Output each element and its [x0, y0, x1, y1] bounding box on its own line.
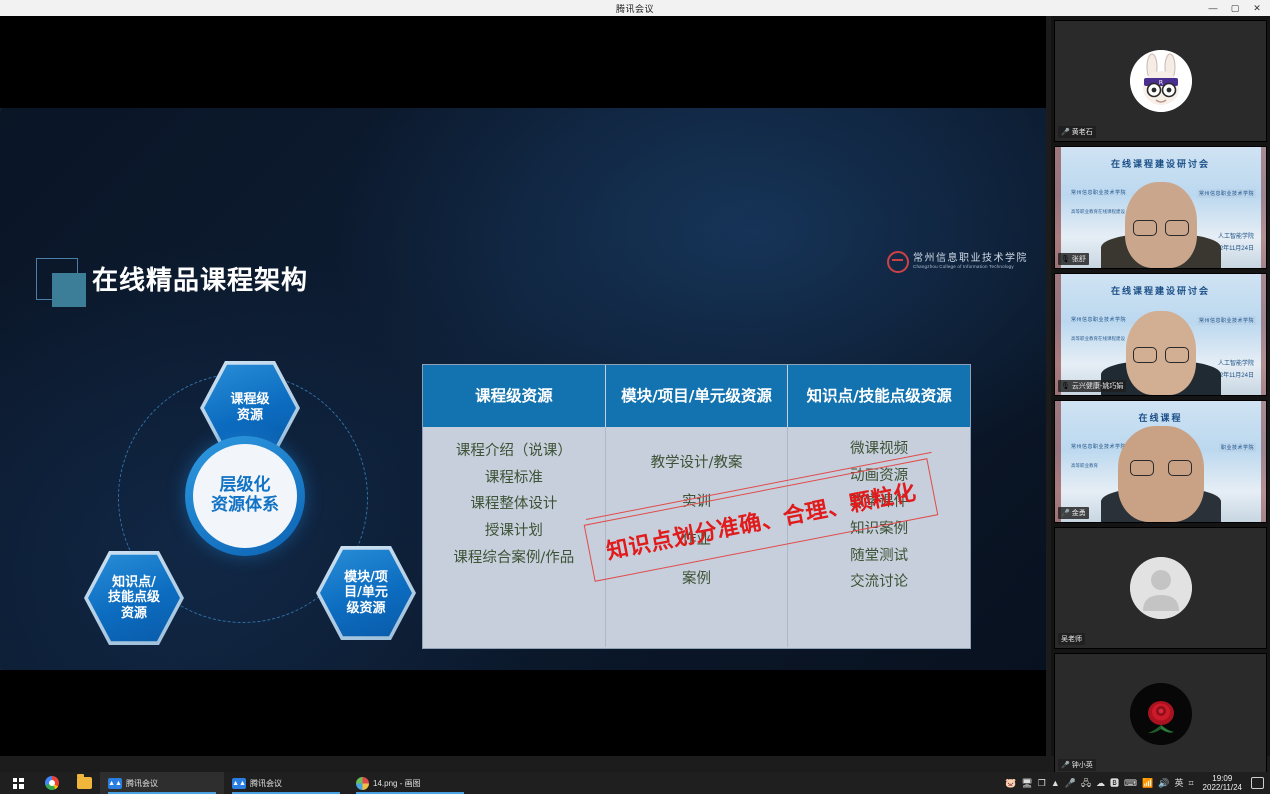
rose-avatar-icon — [1130, 683, 1192, 745]
slide-title: 在线精品课程架构 — [92, 260, 308, 297]
rabbit-avatar-icon: R — [1130, 50, 1192, 112]
video-bg-logo-left: 常州信息职业技术学院 — [1071, 189, 1126, 196]
diagram-center-label: 层级化 资源体系 — [193, 444, 297, 548]
display-icon[interactable]: 🖥 — [1021, 779, 1032, 788]
system-tray[interactable]: 🐷 🖥 ❐ ▲ 🎤 🖧 ☁ 🅱 ⌨ 📶 🔊 英 ⌗ 19:09 2022/11/… — [1005, 774, 1270, 792]
folder-icon — [77, 777, 92, 789]
participant-name-chip: 🎤 黄老石 — [1058, 126, 1096, 138]
hex-course-line2: 资源 — [230, 408, 269, 424]
hex-module-line3: 级资源 — [344, 601, 388, 617]
participant-tile[interactable]: 在线课程 常州信息职业技术学院 职业技术学院 高等职业教育 🎤 金勇 — [1054, 400, 1267, 523]
video-bg-subtitle: 高等职业教育 — [1071, 463, 1098, 469]
taskbar-item-label: 腾讯会议 — [126, 778, 158, 789]
avatar: R — [1130, 50, 1192, 112]
person-head — [1126, 311, 1196, 395]
person-head — [1118, 426, 1204, 522]
mic-muted-icon: 🎤 — [1061, 762, 1070, 769]
center-line2: 资源体系 — [211, 496, 279, 516]
clock-time: 19:09 — [1212, 774, 1232, 783]
participant-name-chip: 🎤 钟小英 — [1058, 759, 1096, 771]
letterbox-bottom — [0, 670, 1046, 756]
participant-tile[interactable]: 在线课程建设研讨会 常州信息职业技术学院 常州信息职业技术学院 高等职业教育在线… — [1054, 146, 1267, 269]
list-item: 课程整体设计 — [470, 496, 557, 513]
avatar — [1130, 557, 1192, 619]
start-button[interactable] — [0, 772, 36, 794]
maximize-icon[interactable]: ▢ — [1224, 0, 1246, 16]
table-header-row: 课程级资源 模块/项目/单元级资源 知识点/技能点级资源 — [423, 365, 970, 427]
hex-knowledge-line1: 知识点/ — [108, 575, 160, 591]
list-item: 课程介绍（说课） — [456, 443, 572, 460]
mic-active-icon: 🎙 — [1061, 383, 1070, 390]
hex-module-line1: 模块/项 — [344, 570, 388, 586]
window-title: 腾讯会议 — [616, 2, 654, 15]
participant-name-chip: 🎙 云兴健康-姚巧娟 — [1058, 380, 1126, 392]
tencent-meeting-window: 腾讯会议 — ▢ ✕ 在线精品课程架构 常州信息职业技术学院 Changzhou… — [0, 0, 1270, 794]
participant-name: 张舒 — [1072, 254, 1086, 264]
participant-tile[interactable]: 🎤 钟小英 — [1054, 653, 1267, 775]
mic-icon[interactable]: 🎤 — [1065, 779, 1076, 788]
chrome-icon — [45, 776, 59, 790]
list-item: 教学设计/教案 — [651, 455, 743, 472]
institution-logo: 常州信息职业技术学院 Changzhou College of Informat… — [887, 251, 1028, 273]
minimize-icon[interactable]: — — [1202, 0, 1224, 16]
presentation-slide: 在线精品课程架构 常州信息职业技术学院 Changzhou College of… — [0, 108, 1046, 670]
video-bg-dept: 人工智能学院 — [1218, 231, 1254, 240]
copy-icon[interactable]: ❐ — [1038, 779, 1046, 788]
bluetooth-icon[interactable]: 🅱 — [1110, 779, 1119, 788]
mic-muted-icon: 🎤 — [1061, 129, 1070, 136]
table-header-cell-3: 知识点/技能点级资源 — [788, 365, 970, 427]
participant-name-chip: 🎙 张舒 — [1058, 253, 1089, 265]
glasses-icon — [1133, 220, 1189, 234]
list-item: 案例 — [682, 571, 711, 588]
hex-course-line1: 课程级 — [230, 392, 269, 408]
windows-taskbar[interactable]: ▲▲ 腾讯会议 ▲▲ 腾讯会议 14.png - 画图 🐷 🖥 ❐ ▲ 🎤 🖧 … — [0, 772, 1270, 794]
video-bg-logo-left: 常州信息职业技术学院 — [1071, 443, 1126, 450]
video-bg-title: 在线课程 — [1055, 411, 1266, 424]
ime-panel-icon[interactable]: ⌗ — [1188, 779, 1193, 788]
participant-name: 黄老石 — [1072, 127, 1093, 137]
video-feed: 在线课程建设研讨会 常州信息职业技术学院 常州信息职业技术学院 高等职业教育在线… — [1055, 147, 1266, 268]
action-center-icon[interactable] — [1251, 777, 1264, 789]
tencent-meeting-icon: ▲▲ — [108, 778, 122, 789]
mic-muted-icon: 🎤 — [1061, 510, 1070, 517]
participant-name: 钟小英 — [1072, 760, 1093, 770]
taskbar-item-paint[interactable]: 14.png - 画图 — [348, 772, 472, 794]
network-icon[interactable]: 🖧 — [1081, 779, 1091, 788]
taskbar-item-label: 14.png - 画图 — [373, 778, 421, 789]
hex-module-line2: 目/单元 — [344, 585, 388, 601]
hex-knowledge-line3: 资源 — [108, 606, 160, 622]
decor-square-fill — [52, 273, 86, 307]
participant-tile[interactable]: 在线课程建设研讨会 常州信息职业技术学院 常州信息职业技术学院 高等职业教育在线… — [1054, 273, 1267, 396]
volume-icon[interactable]: 🔊 — [1158, 779, 1169, 788]
table-header-cell-2: 模块/项目/单元级资源 — [606, 365, 789, 427]
glasses-icon — [1133, 347, 1189, 361]
list-item: 微课视频 — [850, 441, 908, 458]
logo-text: 常州信息职业技术学院 Changzhou College of Informat… — [913, 254, 1028, 269]
hex-node-knowledge: 知识点/ 技能点级 资源 — [88, 552, 180, 644]
participant-name-chip: 吴老师 — [1058, 633, 1085, 645]
paint-icon — [356, 777, 369, 790]
keyboard-icon[interactable]: ⌨ — [1124, 779, 1137, 788]
diagram-center-disc: 层级化 资源体系 — [185, 436, 305, 556]
wifi-icon[interactable]: 📶 — [1142, 779, 1153, 788]
close-icon[interactable]: ✕ — [1246, 0, 1268, 16]
person-placeholder-icon — [1130, 557, 1192, 619]
center-line1: 层级化 — [211, 476, 279, 496]
window-title-bar: 腾讯会议 — ▢ ✕ — [0, 0, 1270, 16]
video-bg-subtitle: 高等职业教育在线课程建设 — [1071, 209, 1125, 215]
video-bg-logo-right: 常州信息职业技术学院 — [1197, 316, 1256, 325]
list-item: 随堂测试 — [850, 548, 908, 565]
video-bg-title: 在线课程建设研讨会 — [1055, 284, 1266, 297]
video-bg-title: 在线课程建设研讨会 — [1055, 157, 1266, 170]
video-bg-logo-left: 常州信息职业技术学院 — [1071, 316, 1126, 323]
tencent-meeting-icon: ▲▲ — [232, 778, 246, 789]
clock-date: 2022/11/24 — [1203, 783, 1242, 792]
chrome-taskbar-icon[interactable] — [36, 772, 68, 794]
table-column-1: 课程介绍（说课） 课程标准 课程整体设计 授课计划 课程综合案例/作品 — [423, 427, 606, 647]
file-explorer-taskbar-icon[interactable] — [68, 772, 100, 794]
taskbar-item-tencent-meeting-1[interactable]: ▲▲ 腾讯会议 — [100, 772, 224, 794]
mic-active-icon: 🎙 — [1061, 256, 1070, 263]
letterbox-top — [0, 16, 1046, 108]
glasses-icon — [1130, 460, 1192, 474]
video-feed: 在线课程 常州信息职业技术学院 职业技术学院 高等职业教育 — [1055, 401, 1266, 522]
notification-icon[interactable]: 🐷 — [1005, 779, 1016, 788]
participant-name: 金勇 — [1072, 508, 1086, 518]
participant-name: 吴老师 — [1061, 634, 1082, 644]
video-feed: 在线课程建设研讨会 常州信息职业技术学院 常州信息职业技术学院 高等职业教育在线… — [1055, 274, 1266, 395]
cloud-icon[interactable]: ☁ — [1096, 779, 1105, 788]
video-bg-subtitle: 高等职业教育在线课程建设 — [1071, 336, 1125, 342]
list-item: 课程标准 — [485, 470, 543, 487]
participant-tile[interactable]: 吴老师 — [1054, 527, 1267, 649]
logo-name-en: Changzhou College of Information Technol… — [913, 265, 1028, 270]
hex-node-module: 模块/项 目/单元 级资源 — [320, 547, 412, 639]
taskbar-clock[interactable]: 19:09 2022/11/24 — [1199, 774, 1246, 792]
shared-screen-stage[interactable]: 在线精品课程架构 常州信息职业技术学院 Changzhou College of… — [0, 16, 1046, 756]
video-bg-logo-right: 常州信息职业技术学院 — [1197, 189, 1256, 198]
ime-language-icon[interactable]: 英 — [1174, 779, 1183, 788]
list-item: 课程综合案例/作品 — [453, 550, 574, 567]
table-header-cell-1: 课程级资源 — [423, 365, 606, 427]
meeting-icon[interactable]: ▲ — [1051, 779, 1060, 788]
window-controls: — ▢ ✕ — [1202, 0, 1268, 16]
avatar — [1130, 683, 1192, 745]
logo-mark-icon — [887, 251, 909, 273]
list-item: 交流讨论 — [850, 574, 908, 591]
participant-tile[interactable]: R 🎤 黄老石 — [1054, 20, 1267, 142]
windows-logo-icon — [13, 778, 24, 789]
taskbar-item-label: 腾讯会议 — [250, 778, 282, 789]
video-bg-logo-right: 职业技术学院 — [1219, 443, 1256, 452]
hex-knowledge-line2: 技能点级 — [108, 590, 160, 606]
hierarchy-diagram: 课程级 资源 知识点/ 技能点级 资源 — [70, 348, 410, 658]
participant-name-chip: 🎤 金勇 — [1058, 507, 1089, 519]
taskbar-item-tencent-meeting-2[interactable]: ▲▲ 腾讯会议 — [224, 772, 348, 794]
person-head — [1125, 182, 1197, 268]
list-item: 授课计划 — [485, 523, 543, 540]
participant-strip[interactable]: R 🎤 黄老石 在线课程建设研讨会 常州信息职业技术学院 常州信息职业技术学院 … — [1051, 16, 1270, 756]
video-bg-dept: 人工智能学院 — [1218, 358, 1254, 367]
participant-name: 云兴健康-姚巧娟 — [1072, 381, 1123, 391]
